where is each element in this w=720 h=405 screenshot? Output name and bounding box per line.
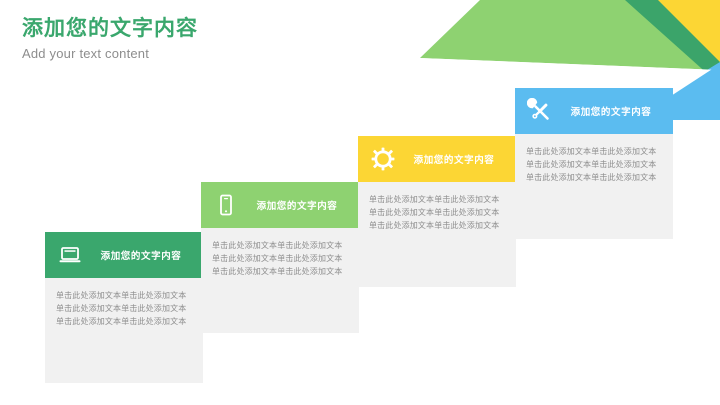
card-header: 添加您的文字内容	[45, 232, 203, 278]
wrench-screwdriver-icon	[525, 96, 555, 126]
gear-icon	[368, 144, 398, 174]
page-title-block: 添加您的文字内容 Add your text content	[22, 16, 352, 63]
card-body: 单击此处添加文本单击此处添加文本单击此处添加文本单击此处添加文本单击此处添加文本…	[45, 278, 203, 383]
dark-green-triangle	[595, 0, 720, 85]
slide-canvas: 添加您的文字内容 Add your text content 添加您的文字内容 …	[0, 0, 720, 405]
card-body: 单击此处添加文本单击此处添加文本单击此处添加文本单击此处添加文本单击此处添加文本…	[358, 182, 516, 287]
card-body: 单击此处添加文本单击此处添加文本单击此处添加文本单击此处添加文本单击此处添加文本…	[515, 134, 673, 239]
card-title: 添加您的文字内容	[85, 248, 203, 262]
light-green-triangle	[420, 0, 720, 70]
card-body-text: 单击此处添加文本单击此处添加文本单击此处添加文本单击此处添加文本单击此处添加文本…	[212, 239, 348, 279]
content-card[interactable]: 添加您的文字内容 单击此处添加文本单击此处添加文本单击此处添加文本单击此处添加文…	[201, 182, 359, 333]
card-body-text: 单击此处添加文本单击此处添加文本单击此处添加文本单击此处添加文本单击此处添加文本…	[526, 145, 662, 185]
card-header: 添加您的文字内容	[358, 136, 516, 182]
card-title: 添加您的文字内容	[398, 152, 516, 166]
mobile-phone-icon	[211, 190, 241, 220]
content-card[interactable]: 添加您的文字内容 单击此处添加文本单击此处添加文本单击此处添加文本单击此处添加文…	[45, 232, 203, 383]
card-body-text: 单击此处添加文本单击此处添加文本单击此处添加文本单击此处添加文本单击此处添加文本…	[369, 193, 505, 233]
card-body: 单击此处添加文本单击此处添加文本单击此处添加文本单击此处添加文本单击此处添加文本…	[201, 228, 359, 333]
card-title: 添加您的文字内容	[241, 198, 359, 212]
content-card[interactable]: 添加您的文字内容 单击此处添加文本单击此处添加文本单击此处添加文本单击此处添加文…	[358, 136, 516, 287]
card-title: 添加您的文字内容	[555, 104, 673, 118]
yellow-triangle	[658, 0, 720, 62]
content-card[interactable]: 添加您的文字内容 单击此处添加文本单击此处添加文本单击此处添加文本单击此处添加文…	[515, 88, 673, 239]
page-title: 添加您的文字内容	[22, 16, 352, 42]
laptop-icon	[55, 240, 85, 270]
page-subtitle: Add your text content	[22, 45, 352, 63]
card-body-text: 单击此处添加文本单击此处添加文本单击此处添加文本单击此处添加文本单击此处添加文本…	[56, 289, 192, 329]
card-header: 添加您的文字内容	[201, 182, 359, 228]
card-header: 添加您的文字内容	[515, 88, 673, 134]
